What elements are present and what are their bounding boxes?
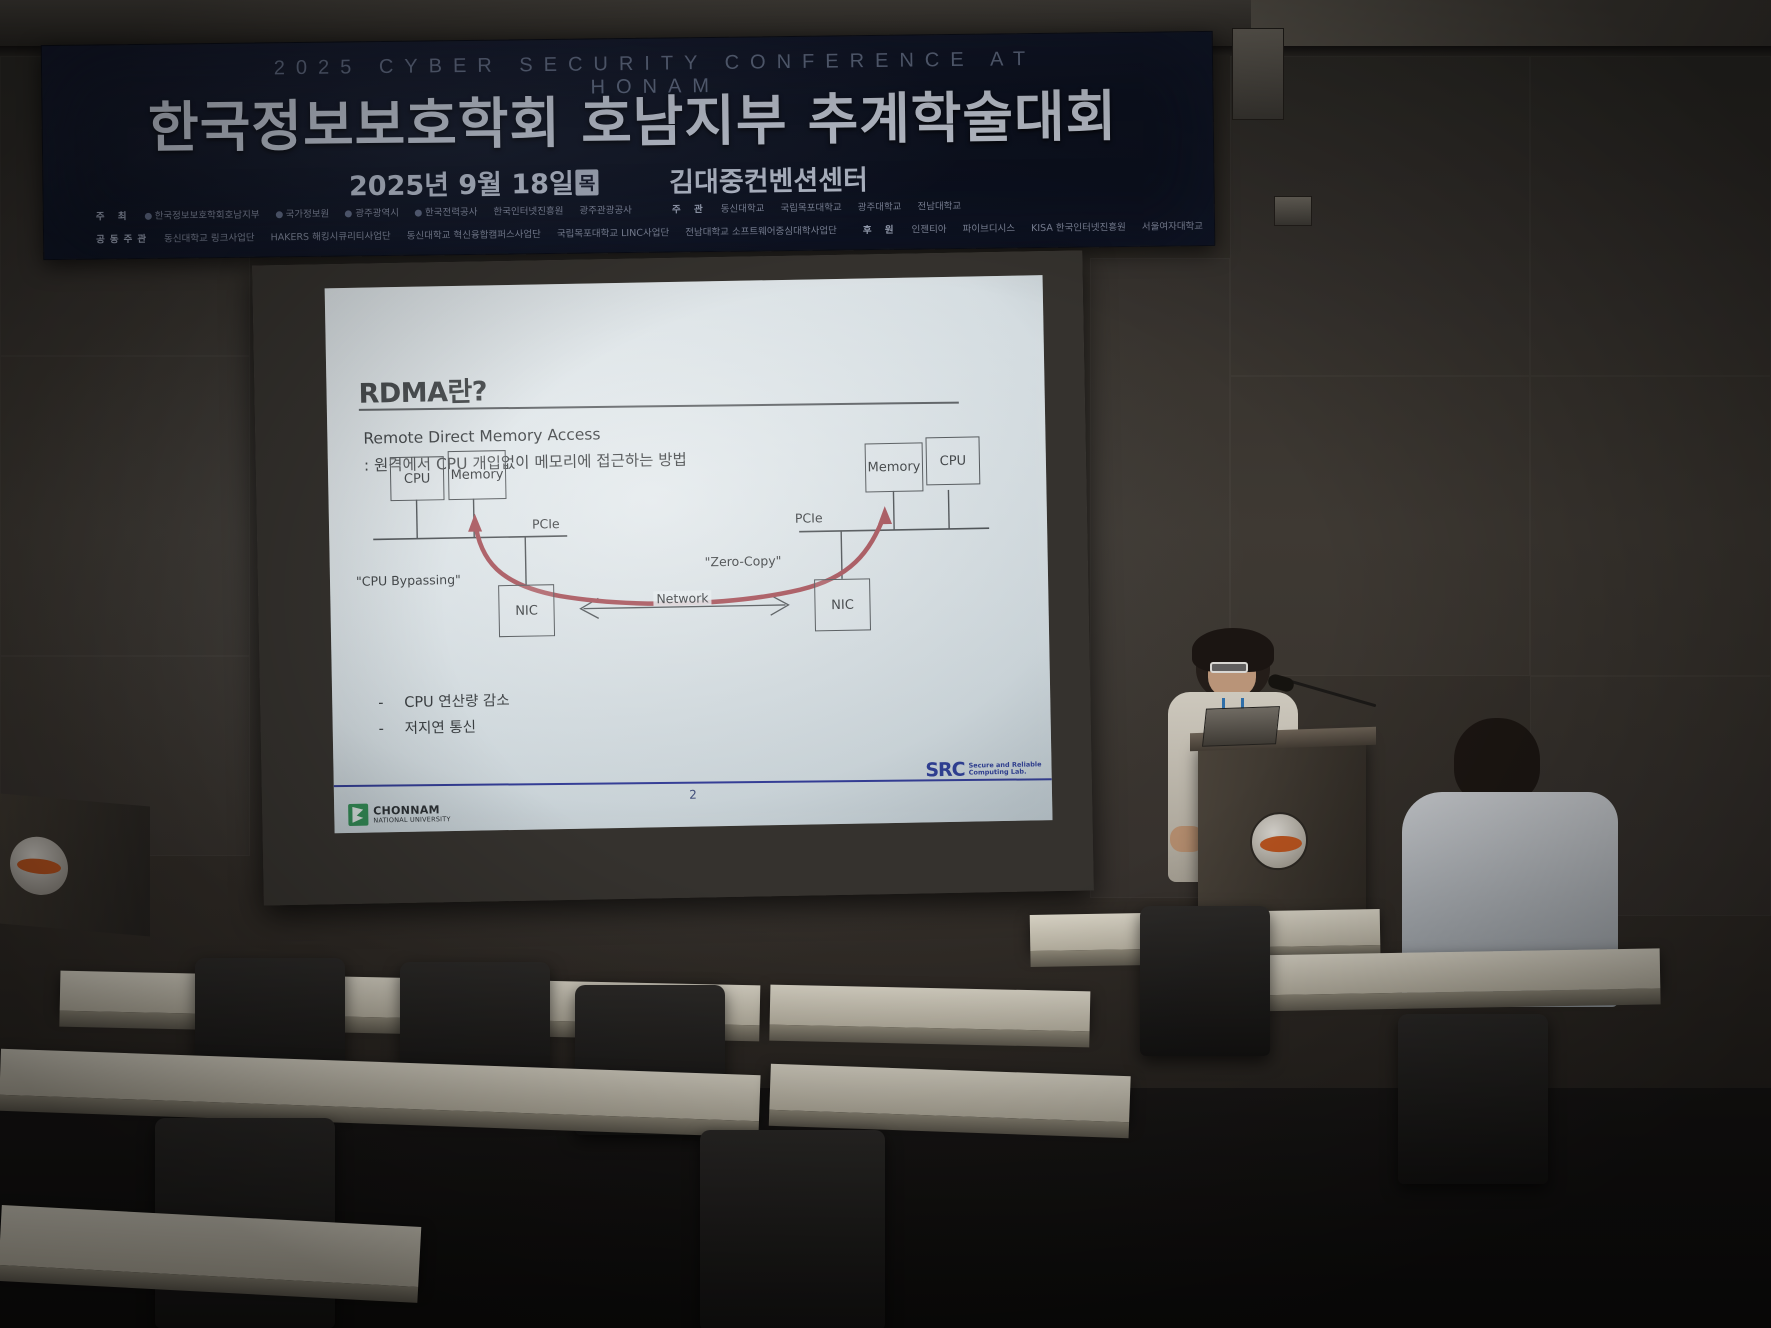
left-memory-box: Memory <box>448 450 507 500</box>
banner-host-0: 한국정보보호학회호남지부 <box>155 210 260 222</box>
presentation-slide: RDMA란? Remote Direct Memory Access : 원격에… <box>325 275 1053 833</box>
banner-supervisor-1: 국립목포대학교 <box>780 202 841 214</box>
university-name: CHONNAM <box>373 804 450 816</box>
bullet-dash-1: - <box>379 721 405 737</box>
lab-line-2: Computing Lab. <box>969 768 1042 777</box>
right-pcie-label: PCIe <box>795 510 823 526</box>
conference-banner: 2025 Cyber Security Conference at Honam … <box>41 31 1216 260</box>
venue-emblem-icon <box>1250 811 1308 871</box>
zero-copy-annotation: "Zero-Copy" <box>705 553 782 569</box>
banner-sponsor-1: 파이브디시스 <box>963 223 1016 235</box>
banner-sponsor-2: KISA 한국인터넷진흥원 <box>1031 222 1126 234</box>
side-lectern <box>0 793 150 936</box>
cpu-bypassing-annotation: "CPU Bypassing" <box>356 572 461 589</box>
banner-host-row: 주 최 한국정보보호학회호남지부 국가정보원 광주광역시 한국전력공사 한국인터… <box>96 195 1186 222</box>
bullet-dash-0: - <box>378 695 404 711</box>
bullet-text-0: CPU 연산량 감소 <box>404 693 510 711</box>
chonnam-university-logo: CHONNAM NATIONAL UNIVERSITY <box>348 802 451 826</box>
chair-front-2 <box>700 1130 885 1328</box>
banner-supervisor-3: 전남대학교 <box>917 201 961 213</box>
lab-abbreviation: SRC <box>925 759 965 782</box>
rdma-diagram: CPU Memory PCIe NIC "CPU Bypassing" Memo… <box>325 275 1053 833</box>
banner-date-venue: 2025년 9월 18일목 김대중컨벤션센터 <box>83 155 1133 207</box>
left-memory-label: Memory <box>451 467 504 483</box>
chair-back-right-2 <box>1398 1014 1548 1184</box>
chair-back-right <box>1140 906 1270 1056</box>
left-nic-box: NIC <box>498 584 555 637</box>
ceiling-vent <box>1232 28 1284 120</box>
desk-row-middle-right <box>770 985 1091 1032</box>
desk-row-back-right-2 <box>1240 948 1661 995</box>
banner-supervisor-label: 주 관 <box>672 204 708 215</box>
src-lab-logo: SRC Secure and Reliable Computing Lab. <box>925 757 1042 781</box>
banner-sponsor-label: 후 원 <box>863 225 899 236</box>
left-cpu-box: CPU <box>390 456 445 501</box>
university-subname: NATIONAL UNIVERSITY <box>373 815 450 824</box>
laptop <box>1202 706 1280 747</box>
right-memory-label: Memory <box>867 459 920 475</box>
right-nic-box: NIC <box>814 578 871 631</box>
banner-supervisor-2: 광주대학교 <box>858 202 902 214</box>
slide-bullet-1: -저지연 통신 <box>379 716 477 739</box>
projection-screen: RDMA란? Remote Direct Memory Access : 원격에… <box>252 250 1094 905</box>
banner-date: 2025년 9월 18일 <box>349 169 574 203</box>
banner-host-5: 광주관광공사 <box>579 205 632 217</box>
network-label: Network <box>653 590 711 606</box>
banner-cohost-2: 동신대학교 혁신융합캠퍼스사업단 <box>407 229 541 242</box>
bullet-text-1: 저지연 통신 <box>405 720 477 737</box>
wall-speaker <box>1274 196 1312 226</box>
banner-sponsor-3: 서울여자대학교 <box>1142 221 1203 233</box>
banner-host-1: 국가정보원 <box>286 209 330 221</box>
right-cpu-box: CPU <box>925 436 980 485</box>
banner-supervisor-0: 동신대학교 <box>721 203 765 215</box>
banner-main-title: 한국정보보호학회 호남지부 추계학술대회 <box>82 70 1183 163</box>
right-memory-box: Memory <box>865 442 924 492</box>
banner-cohost-row: 공동주관 동신대학교 링크사업단 HAKERS 해킹시큐리티사업단 동신대학교 … <box>96 218 1186 245</box>
right-nic-label: NIC <box>831 597 854 612</box>
eyeglasses <box>1210 662 1248 673</box>
banner-host-3: 한국전력공사 <box>425 207 478 219</box>
banner-cohost-3: 국립목포대학교 LINC사업단 <box>557 228 669 240</box>
banner-host-4: 한국인터넷진흥원 <box>493 206 563 218</box>
conference-room-photo: 2025 Cyber Security Conference at Honam … <box>0 0 1771 1328</box>
banner-cohost-label: 공동주관 <box>96 234 151 246</box>
left-cpu-label: CPU <box>404 471 431 486</box>
banner-cohost-4: 전남대학교 소프트웨어중심대학사업단 <box>685 225 837 238</box>
lectern <box>1198 737 1366 918</box>
banner-venue: 김대중컨벤션센터 <box>669 165 868 198</box>
banner-sponsor-0: 인젠티아 <box>912 224 947 235</box>
banner-english-line: 2025 Cyber Security Conference at Honam <box>240 48 1071 104</box>
banner-host-label: 주 최 <box>96 211 132 222</box>
university-crest-icon <box>348 804 368 826</box>
left-pcie-label: PCIe <box>532 516 560 532</box>
banner-host-2: 광주광역시 <box>355 208 399 220</box>
side-venue-emblem-icon <box>10 834 68 897</box>
right-cpu-label: CPU <box>940 453 967 468</box>
left-nic-label: NIC <box>515 603 538 618</box>
banner-cohost-1: HAKERS 해킹시큐리티사업단 <box>270 231 390 243</box>
slide-bullet-0: -CPU 연산량 감소 <box>378 689 510 712</box>
banner-cohost-0: 동신대학교 링크사업단 <box>164 233 255 245</box>
banner-date-badge: 목 <box>576 169 599 195</box>
